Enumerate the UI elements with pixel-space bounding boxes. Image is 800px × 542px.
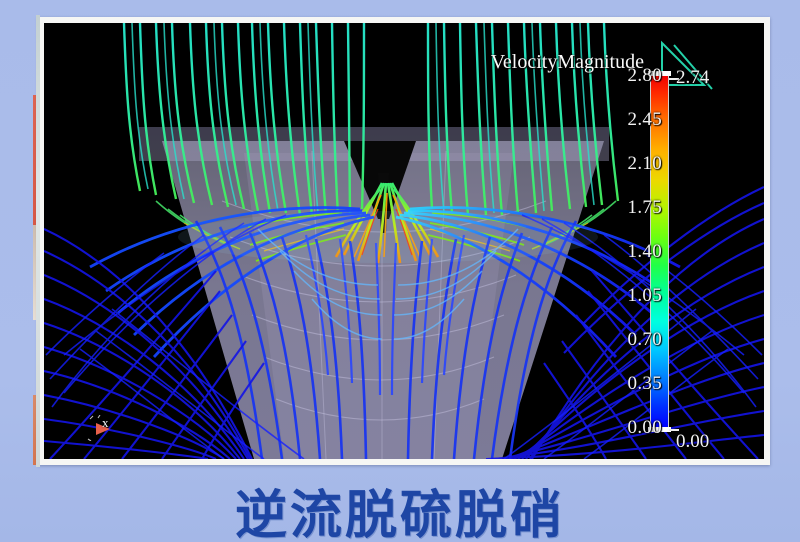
colorbar-max-label: 2.74 [676, 67, 709, 89]
colorbar-tick-2: 2.10 [602, 153, 662, 175]
slide-background: VelocityMagnitude 2.80 2.45 2.10 1.75 1.… [0, 0, 800, 542]
colorbar-min-label: 0.00 [676, 431, 709, 453]
colorbar-tick-7: 0.35 [602, 373, 662, 395]
colorbar-tick-8: 0.00 [602, 417, 662, 439]
colorbar-tick-1: 2.45 [602, 109, 662, 131]
colorbar-tick-6: 0.70 [602, 329, 662, 351]
orientation-axes-widget[interactable]: x [54, 415, 126, 441]
colorbar-tick-0: 2.80 [602, 65, 662, 87]
colorbar-tick-4: 1.40 [602, 241, 662, 263]
axis-label-x: x [102, 415, 109, 431]
colorbar-tick-3: 1.75 [602, 197, 662, 219]
colorbar[interactable]: VelocityMagnitude 2.80 2.45 2.10 1.75 1.… [610, 61, 730, 441]
figure-caption: 逆流脱硫脱硝 [0, 473, 800, 542]
axis-arrow-icon [54, 415, 126, 441]
cfd-render-viewport[interactable]: VelocityMagnitude 2.80 2.45 2.10 1.75 1.… [44, 23, 764, 459]
render-view-frame: VelocityMagnitude 2.80 2.45 2.10 1.75 1.… [38, 17, 770, 465]
colorbar-tick-5: 1.05 [602, 285, 662, 307]
